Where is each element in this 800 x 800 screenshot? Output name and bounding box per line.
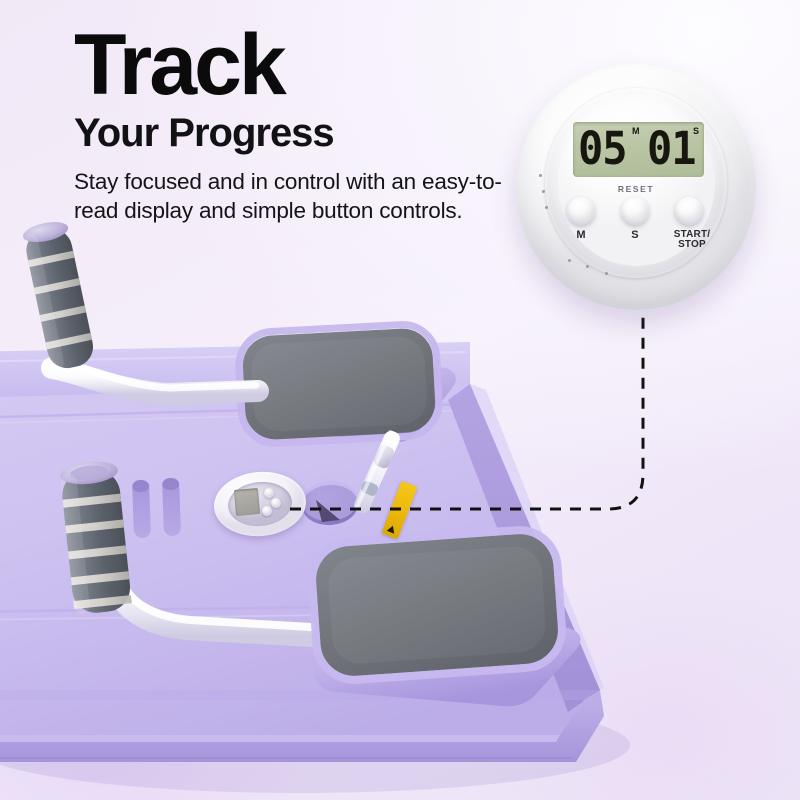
start-stop-button[interactable] (675, 197, 703, 225)
timer-left-dots (539, 174, 548, 222)
body-copy: Stay focused and in control with an easy… (74, 167, 504, 226)
minutes-button-label: M (561, 230, 601, 241)
warning-triangle-icon (387, 524, 397, 533)
seconds-button-label: S (615, 230, 655, 241)
headline-primary: Track (74, 26, 504, 106)
board-timer-button-1[interactable] (264, 488, 274, 498)
board-inset-timer[interactable] (214, 472, 306, 536)
lcd-minutes-value: 05 (578, 122, 627, 176)
seconds-button[interactable] (621, 197, 649, 225)
reset-label: RESET (516, 184, 756, 194)
product-hero-image: WARNING 05 M 01 S RESET M S START/STOP (0, 0, 800, 800)
board-timer-lcd (234, 488, 260, 516)
timer-button-row: M S START/STOP (564, 197, 712, 227)
lcd-minutes-unit: M (632, 126, 640, 136)
hero-timer[interactable]: 05 M 01 S RESET M S START/STOP (516, 64, 756, 312)
minutes-button[interactable] (567, 197, 595, 225)
board-timer-button-3[interactable] (262, 506, 272, 516)
headline-secondary: Your Progress (74, 112, 504, 155)
lcd-seconds-value: 01 (647, 122, 696, 176)
timer-lcd-display: 05 M 01 S (573, 122, 704, 177)
lcd-seconds-unit: S (693, 126, 699, 136)
start-stop-button-label: START/STOP (664, 230, 720, 250)
marketing-copy-block: Track Your Progress Stay focused and in … (74, 26, 504, 226)
board-timer-button-2[interactable] (271, 498, 281, 508)
timer-bottom-dots (568, 259, 628, 281)
